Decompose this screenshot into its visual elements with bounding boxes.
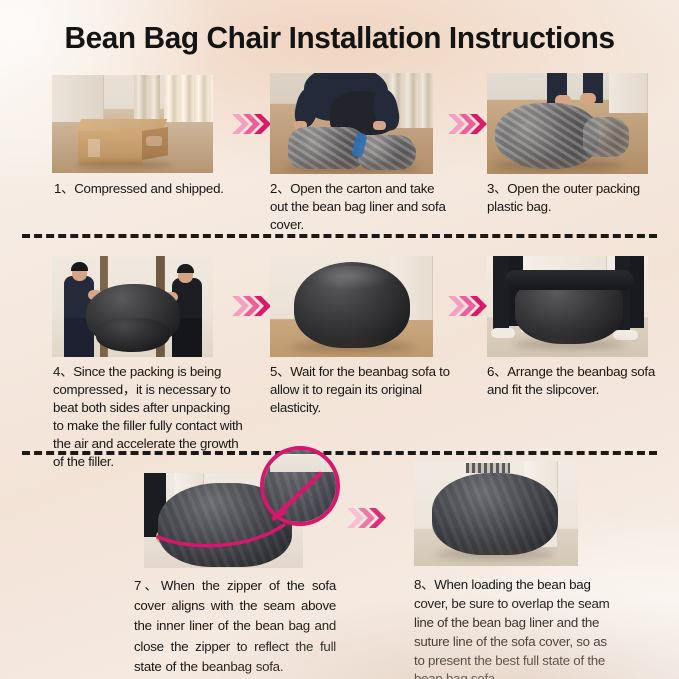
step-3-image	[487, 73, 648, 174]
step-2-caption: 2、Open the carton and take out the bean …	[270, 180, 452, 234]
step-1-caption: 1、Compressed and shipped.	[54, 180, 244, 198]
triple-chevron-right-icon	[448, 111, 488, 137]
step-4-image	[52, 256, 213, 357]
triple-chevron-right-icon	[347, 505, 387, 531]
page-title-wrap: Bean Bag Chair Installation Instructions	[0, 20, 679, 56]
step-6-image	[487, 256, 648, 357]
step-1-image	[52, 75, 213, 173]
triple-chevron-right-icon	[232, 293, 272, 319]
step-3-caption: 3、Open the outer packing plastic bag.	[487, 180, 657, 216]
step-8-caption: 8、When loading the bean bag cover, be su…	[414, 576, 614, 679]
callout-pointer-arrow	[232, 470, 328, 532]
arrow-step1-to-step2	[232, 111, 272, 137]
step-5-caption: 5、Wait for the beanbag sofa to allow it …	[270, 363, 456, 417]
arrow-step5-to-step6	[448, 293, 488, 319]
arrow-step2-to-step3	[448, 111, 488, 137]
triple-chevron-right-icon	[448, 293, 488, 319]
triple-chevron-right-icon	[232, 111, 272, 137]
arrow-step4-to-step5	[232, 293, 272, 319]
step-7-caption: 7、When the zipper of the sofa cover alig…	[134, 576, 336, 677]
step-8-image	[414, 461, 578, 566]
step-4-caption: 4、Since the packing is being compressed，…	[53, 363, 243, 471]
step-2-image	[270, 73, 433, 174]
step-6-caption: 6、Arrange the beanbag sofa and fit the s…	[487, 363, 663, 399]
step-5-image	[270, 256, 433, 357]
instruction-poster: Bean Bag Chair Installation Instructions	[0, 0, 679, 679]
page-title: Bean Bag Chair Installation Instructions	[64, 20, 614, 56]
divider-row1-row2	[22, 234, 657, 238]
arrow-step7-to-step8	[347, 505, 387, 531]
